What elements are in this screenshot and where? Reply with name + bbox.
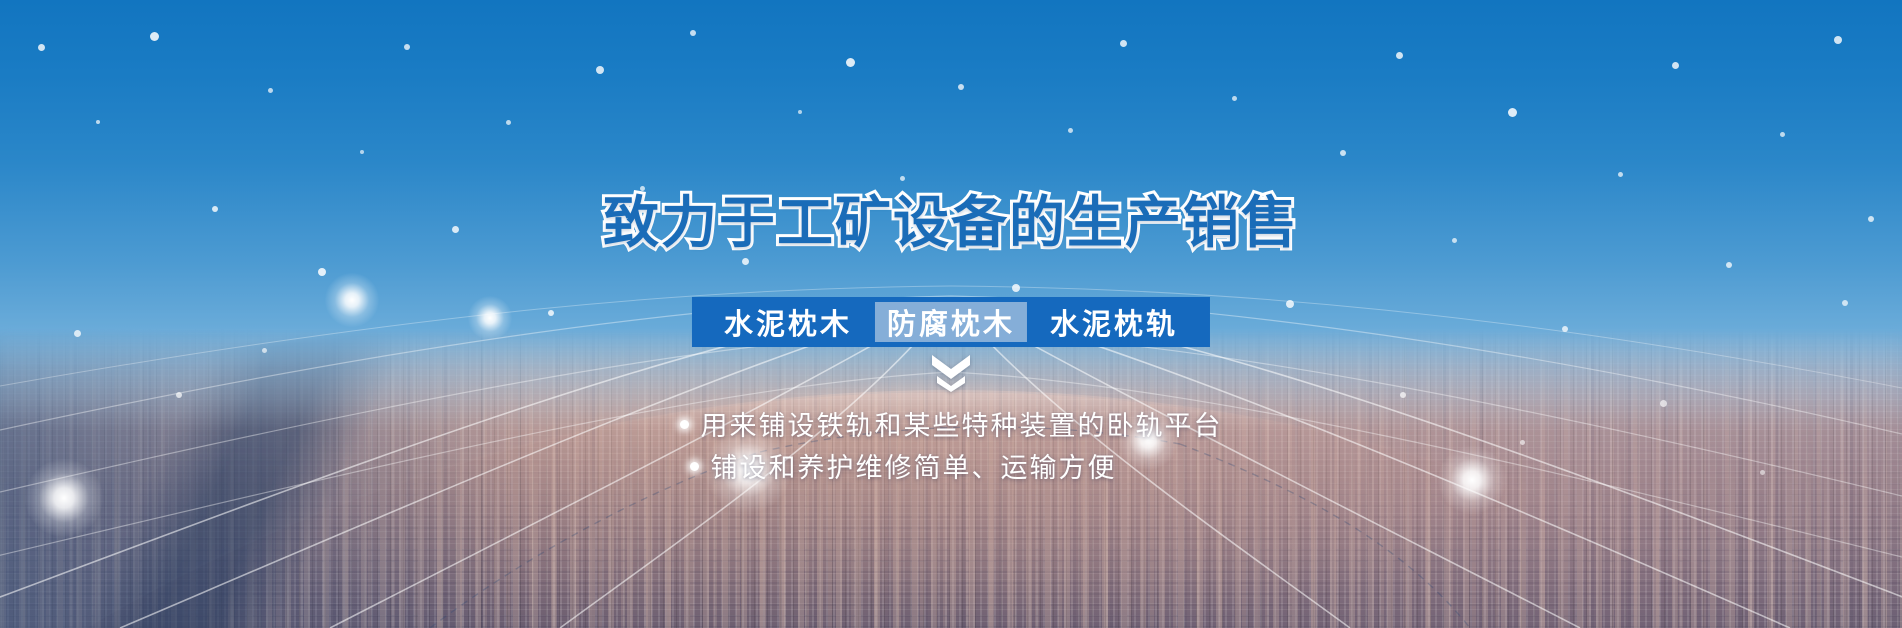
list-item: 用来铺设铁轨和某些特种装置的卧轨平台: [0, 406, 1902, 448]
list-item-label: 用来铺设铁轨和某些特种装置的卧轨平台: [701, 411, 1223, 442]
double-chevron-down-icon: [930, 352, 972, 392]
product-tag-antiseptic-sleeper[interactable]: 防腐枕木: [875, 302, 1027, 342]
bullet-dot-icon: [690, 462, 699, 471]
list-item: 铺设和养护维修简单、运输方便: [0, 448, 1902, 490]
hero-banner: 致力于工矿设备的生产销售 水泥枕木 防腐枕木 水泥枕轨 用来铺设铁轨和某些特种装…: [0, 0, 1902, 628]
bullet-dot-icon: [680, 420, 689, 429]
product-tag-cement-rail[interactable]: 水泥枕轨: [1034, 297, 1194, 347]
product-tag-bar: 水泥枕木 防腐枕木 水泥枕轨: [692, 297, 1210, 347]
page-title: 致力于工矿设备的生产销售: [0, 196, 1902, 252]
product-tag-cement-sleeper[interactable]: 水泥枕木: [708, 297, 868, 347]
list-item-label: 铺设和养护维修简单、运输方便: [711, 453, 1117, 484]
banner-content: 致力于工矿设备的生产销售 水泥枕木 防腐枕木 水泥枕轨 用来铺设铁轨和某些特种装…: [0, 0, 1902, 628]
feature-bullet-list: 用来铺设铁轨和某些特种装置的卧轨平台 铺设和养护维修简单、运输方便: [0, 406, 1902, 490]
